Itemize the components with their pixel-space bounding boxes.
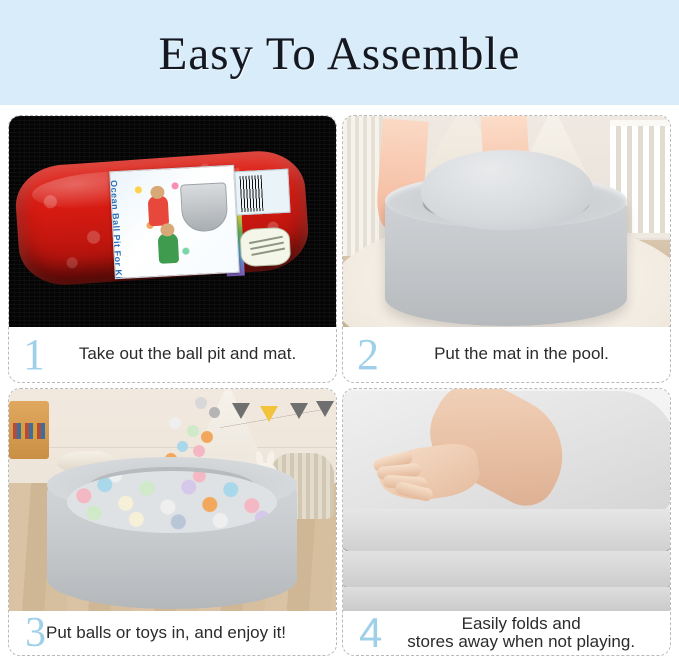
step-number-3: 3 [15,612,46,654]
falling-ball [177,441,188,452]
falling-ball [187,425,199,437]
falling-ball [169,417,181,429]
infographic-page: Easy To Assemble Ocean Ball Pit For Kids [0,0,679,664]
step-number-4: 4 [349,612,382,654]
bunting-flag [260,406,278,422]
grey-mat [421,150,593,230]
step-text-2: Put the mat in the pool. [383,345,670,363]
step-caption-4: 4 Easily folds and stores away when not … [343,611,670,655]
step-caption-3: 3 Put balls or toys in, and enjoy it! [9,611,336,655]
packaged-ball-pit-photo: Ocean Ball Pit For Kids [9,116,336,329]
folded-pit-layer [343,509,670,555]
step-number-1: 1 [15,333,49,377]
label-side-card [234,169,293,276]
step-panel-2: 2 Put the mat in the pool. [342,115,671,383]
falling-ball [209,407,220,418]
header-banner: Easy To Assemble [0,0,679,105]
page-title: Easy To Assemble [0,27,679,81]
window-curtain [343,116,383,256]
step-panel-3: 3 Put balls or toys in, and enjoy it! [8,388,337,656]
step-number-2: 2 [349,333,383,377]
step-panel-4: 4 Easily folds and stores away when not … [342,388,671,656]
books-row [13,423,45,439]
step-caption-1: 1 Take out the ball pit and mat. [9,327,336,382]
step-panel-1: Ocean Ball Pit For Kids 1 Take out the b… [8,115,337,383]
falling-ball [201,431,213,443]
pastel-balls-fill [67,471,277,533]
label-seal-sticker [239,227,291,268]
falling-ball [193,445,205,457]
step-text-4: Easily folds and stores away when not pl… [382,615,670,652]
bunting-flag [290,403,308,419]
steps-grid: Ocean Ball Pit For Kids 1 Take out the b… [8,115,671,659]
step-text-1: Take out the ball pit and mat. [49,345,336,363]
bunting-flag [232,403,250,419]
folded-pit-photo [343,389,670,613]
product-label: Ocean Ball Pit For Kids [109,165,239,279]
barcode-icon [234,169,290,216]
label-child-red [148,195,170,226]
step-text-3: Put balls or toys in, and enjoy it! [46,624,336,642]
bunting-flag [316,401,334,417]
folded-pit-layer [343,551,670,591]
folded-pit-layer [343,587,670,613]
step-caption-2: 2 Put the mat in the pool. [343,327,670,382]
label-child-green [158,233,180,264]
mat-in-pool-photo [343,116,670,329]
falling-ball [195,397,207,409]
filled-ball-pit-photo [9,389,336,613]
